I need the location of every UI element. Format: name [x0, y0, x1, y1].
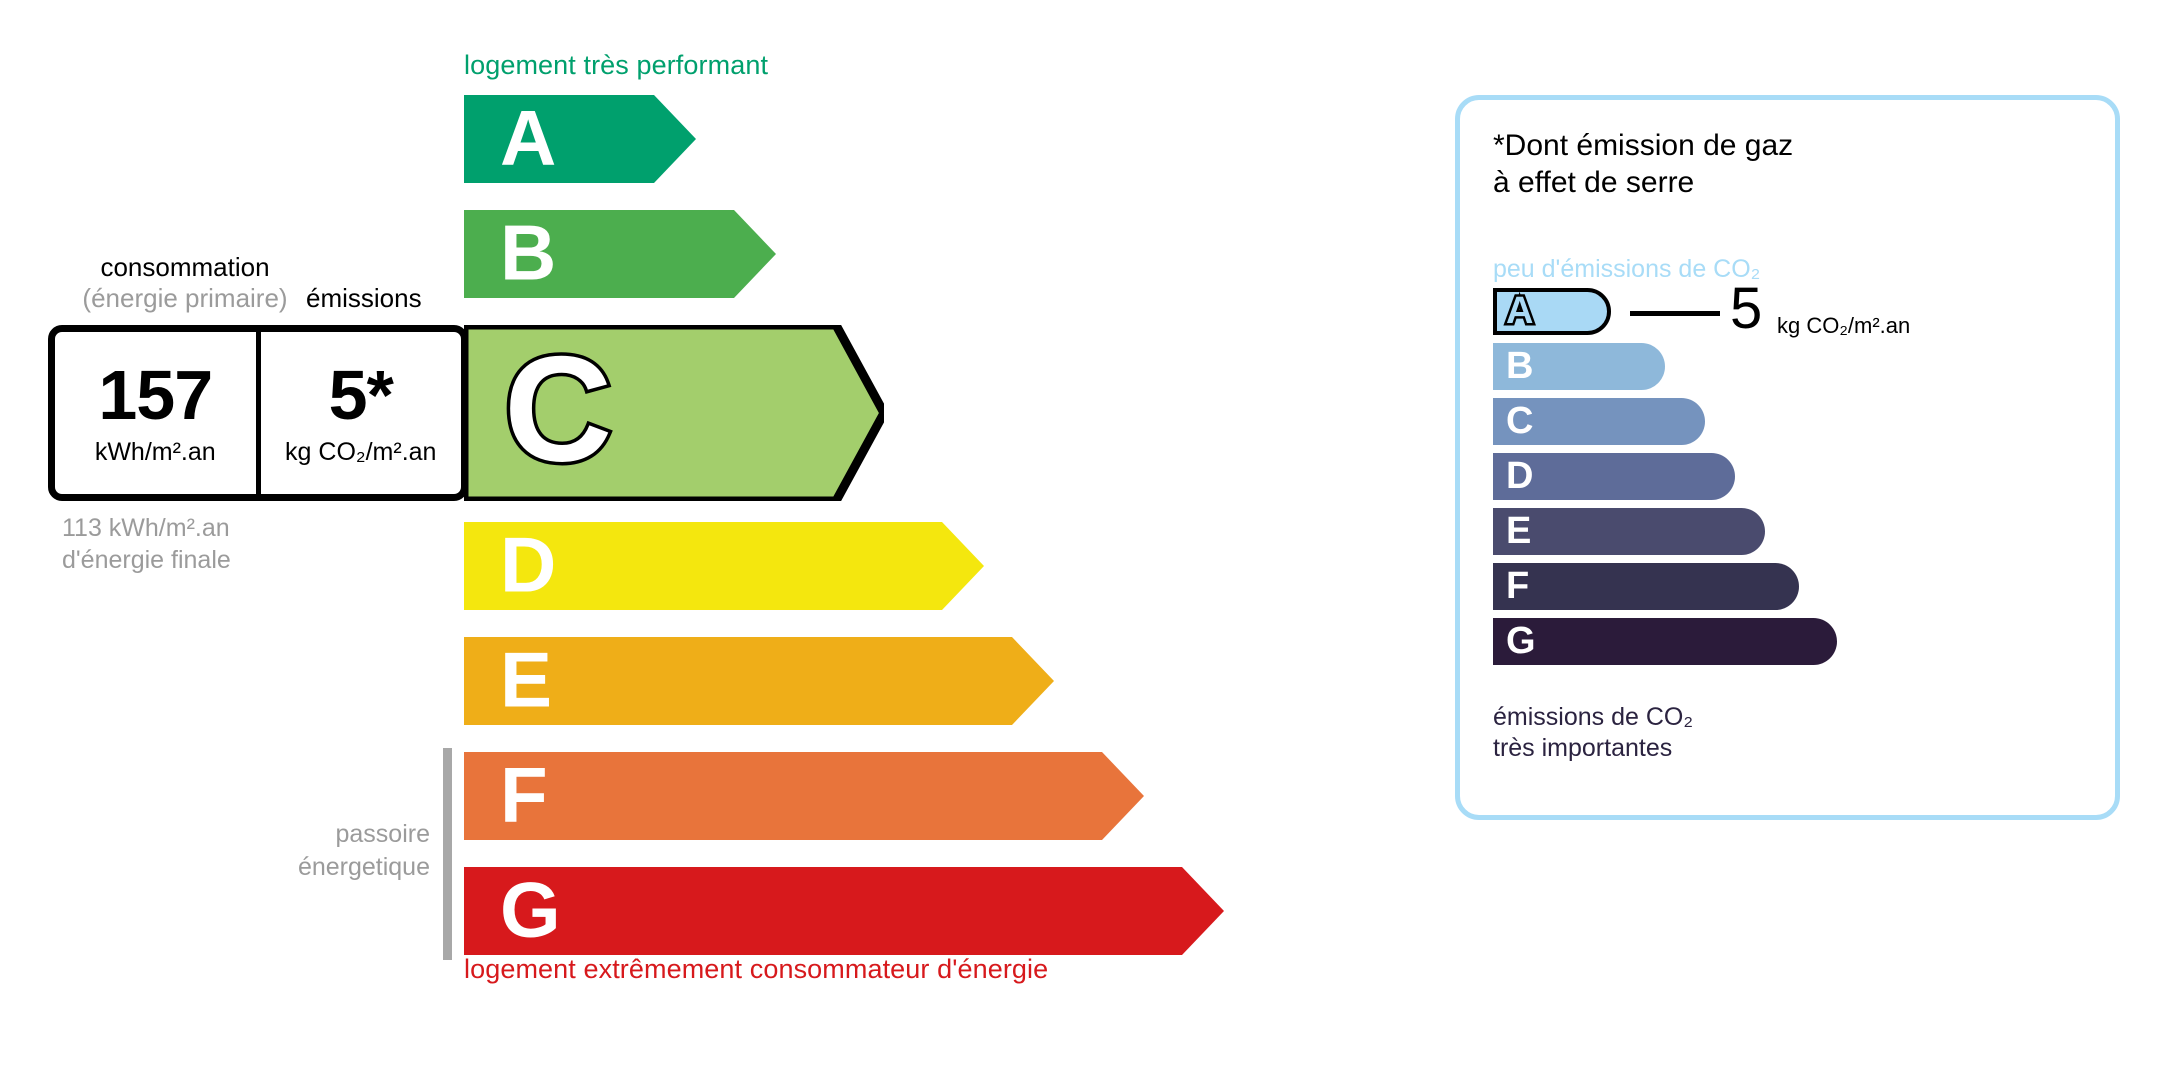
consumption-header: consommation (énergie primaire)	[70, 252, 300, 314]
ges-bottom-label: émissions de CO₂ très importantes	[1493, 702, 1693, 765]
ges-bar-g[interactable]: G	[1493, 618, 1837, 665]
ges-bar-letter: D	[1506, 457, 1533, 495]
ges-bar-letter: C	[1506, 402, 1533, 440]
ges-bar-a-current[interactable]: A	[1493, 288, 1611, 335]
energy-band-letter: D	[500, 525, 556, 603]
ges-panel-title-line1: *Dont émission de gaz	[1493, 128, 1793, 165]
ges-bottom-label-line1: émissions de CO₂	[1493, 702, 1693, 733]
energy-band-letter: E	[500, 640, 552, 718]
ges-bar-e[interactable]: E	[1493, 508, 1765, 555]
ges-value: 5	[1730, 280, 1762, 338]
energy-band-f[interactable]: F	[464, 752, 1144, 840]
energy-band-b[interactable]: B	[464, 210, 776, 298]
final-energy-line2: d'énergie finale	[62, 544, 231, 576]
passoire-label-line1: passoire	[200, 818, 430, 851]
measured-values-box: 157 kWh/m².an 5* kg CO₂/m².an	[48, 325, 468, 501]
consumption-header-line1: consommation	[100, 252, 269, 282]
ges-bar-shape	[1493, 563, 1799, 610]
ges-bar-c[interactable]: C	[1493, 398, 1705, 445]
band-arrow-shape	[464, 867, 1224, 955]
ges-bar-shape	[1493, 618, 1837, 665]
passoire-label-line2: énergetique	[200, 851, 430, 884]
ges-value-unit: kg CO₂/m².an	[1777, 313, 1910, 339]
ges-bar-letter: B	[1506, 347, 1533, 385]
ges-emissions-panel: *Dont émission de gaz à effet de serre p…	[1455, 95, 2120, 820]
band-arrow-shape	[464, 95, 696, 183]
energy-performance-chart: logement très performant A B C D E	[0, 0, 1400, 1079]
energy-band-letter: B	[500, 213, 556, 291]
chart-top-caption: logement très performant	[464, 50, 768, 81]
energy-band-g[interactable]: G	[464, 867, 1224, 955]
energy-band-letter: G	[500, 870, 561, 948]
ges-bar-f[interactable]: F	[1493, 563, 1799, 610]
ges-bar-letter: E	[1506, 512, 1531, 550]
ges-bar-shape	[1493, 508, 1765, 555]
ges-bottom-label-line2: très importantes	[1493, 733, 1693, 764]
emission-value: 5*	[329, 360, 393, 430]
consumption-value: 157	[98, 360, 212, 430]
energy-band-e[interactable]: E	[464, 637, 1054, 725]
ges-panel-title: *Dont émission de gaz à effet de serre	[1493, 128, 1793, 201]
final-energy-line1: 113 kWh/m².an	[62, 512, 231, 544]
band-arrow-shape	[464, 637, 1054, 725]
energy-band-letter: F	[500, 755, 548, 833]
chart-bottom-caption: logement extrêmement consommateur d'éner…	[464, 954, 1048, 985]
passoire-indicator-bar	[443, 748, 452, 960]
ges-panel-title-line2: à effet de serre	[1493, 165, 1793, 202]
ges-leader-line	[1630, 311, 1720, 316]
energy-band-d[interactable]: D	[464, 522, 984, 610]
consumption-unit: kWh/m².an	[95, 438, 216, 467]
energy-band-c-current[interactable]: C	[464, 325, 884, 501]
emission-value-cell: 5* kg CO₂/m².an	[261, 332, 462, 494]
consumption-header-line2: (énergie primaire)	[70, 283, 300, 314]
ges-top-label: peu d'émissions de CO₂	[1493, 255, 1760, 284]
ges-bar-letter: A	[1506, 292, 1533, 330]
ges-bar-letter: G	[1506, 622, 1536, 660]
energy-band-a[interactable]: A	[464, 95, 696, 183]
band-arrow-shape	[464, 752, 1144, 840]
energy-band-letter: A	[500, 98, 556, 176]
final-energy-note: 113 kWh/m².an d'énergie finale	[62, 512, 231, 576]
consumption-value-cell: 157 kWh/m².an	[55, 332, 261, 494]
energy-band-letter: C	[504, 334, 612, 484]
ges-bar-letter: F	[1506, 567, 1529, 605]
emissions-header: émissions	[306, 283, 422, 314]
passoire-label: passoire énergetique	[200, 818, 430, 883]
emission-unit: kg CO₂/m².an	[285, 438, 436, 467]
ges-bar-b[interactable]: B	[1493, 343, 1665, 390]
ges-bar-d[interactable]: D	[1493, 453, 1735, 500]
